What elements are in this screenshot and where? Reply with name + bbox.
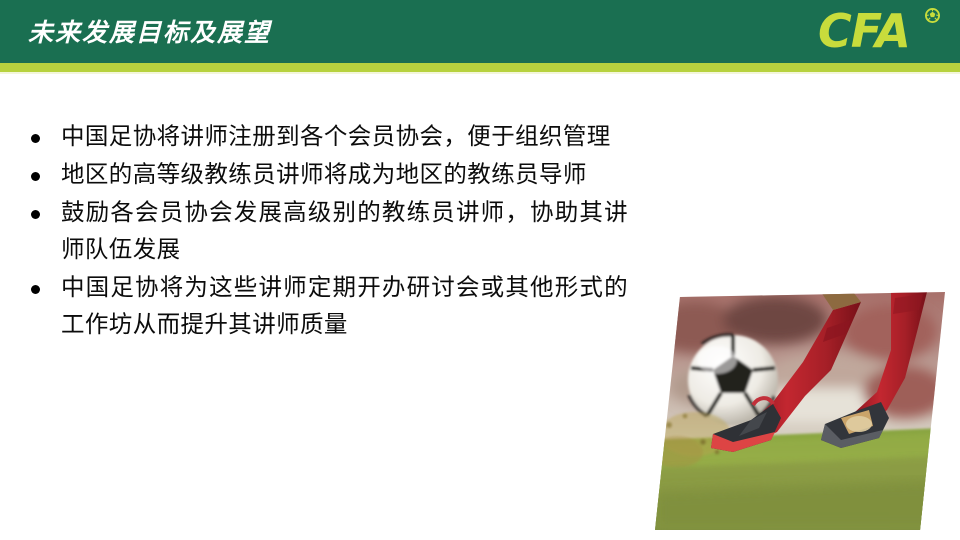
list-item: 地区的高等级教练员讲师将成为地区的教练员导师 — [18, 156, 628, 193]
presentation-slide: 未来发展目标及展望 CFA 中国足协将讲师注册到各个会员协会，便于组织管理 地区… — [0, 0, 960, 540]
bullet-text: 中国足协将讲师注册到各个会员协会，便于组织管理 — [61, 118, 628, 155]
bullet-text: 地区的高等级教练员讲师将成为地区的教练员导师 — [61, 156, 628, 193]
soccer-player-kicking-ball-photo — [655, 292, 945, 530]
cfa-logo: CFA — [818, 6, 942, 60]
photo-graphic — [655, 292, 945, 530]
page-title: 未来发展目标及展望 — [28, 16, 271, 50]
soccer-ball-icon — [925, 8, 940, 23]
bullet-text: 鼓励各会员协会发展高级别的教练员讲师，协助其讲师队伍发展 — [61, 194, 628, 268]
bullet-text: 中国足协将为这些讲师定期开办研讨会或其他形式的工作坊从而提升其讲师质量 — [61, 269, 628, 343]
bullet-list: 中国足协将讲师注册到各个会员协会，便于组织管理 地区的高等级教练员讲师将成为地区… — [18, 118, 628, 344]
bullet-dot-icon — [31, 210, 40, 219]
bullet-dot-icon — [31, 172, 40, 181]
header-accent-stripe-light — [0, 72, 960, 74]
header-accent-stripe — [0, 63, 960, 72]
list-item: 鼓励各会员协会发展高级别的教练员讲师，协助其讲师队伍发展 — [18, 194, 628, 268]
bullet-dot-icon — [31, 285, 40, 294]
cfa-logo-text: CFA — [818, 6, 910, 56]
list-item: 中国足协将为这些讲师定期开办研讨会或其他形式的工作坊从而提升其讲师质量 — [18, 269, 628, 343]
list-item: 中国足协将讲师注册到各个会员协会，便于组织管理 — [18, 118, 628, 155]
bullet-dot-icon — [31, 134, 40, 143]
